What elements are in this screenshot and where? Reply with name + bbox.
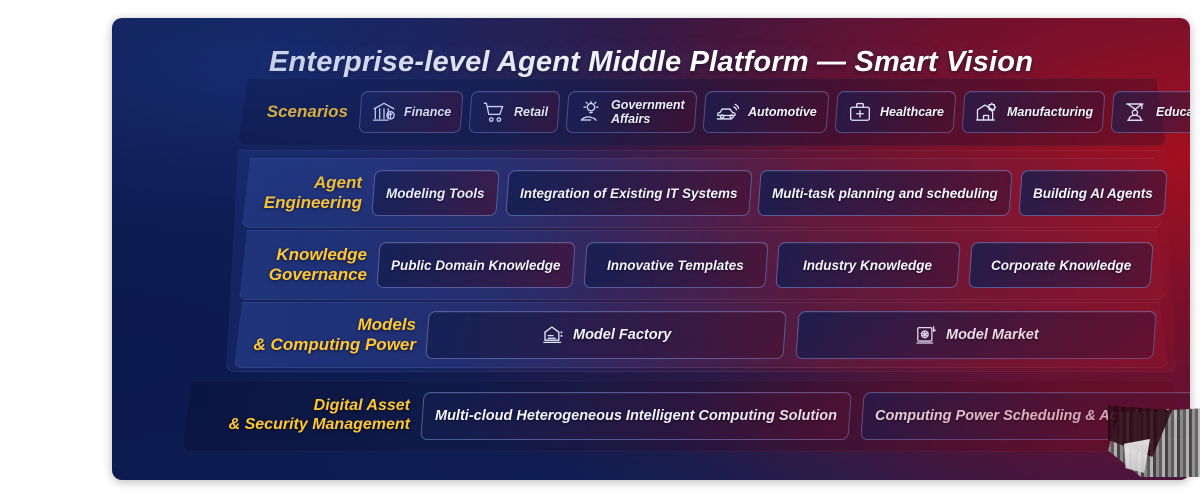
agent-label-modeling-tools: Modeling Tools <box>386 186 485 201</box>
scenarios-chip-list: Finance Retail <box>360 91 1190 133</box>
row-label-digital-asset: Digital Asset & Security Management <box>200 397 410 435</box>
digital-label-multicloud-solution: Multi-cloud Heterogeneous Intelligent Co… <box>435 408 837 424</box>
graduation-person-icon <box>1123 99 1149 125</box>
car-icon <box>715 99 741 125</box>
platform-board: Enterprise-level Agent Middle Platform —… <box>112 18 1190 480</box>
scenario-label-government-affairs: Government Affairs <box>611 98 685 126</box>
bank-icon <box>371 99 397 125</box>
scenario-chip-manufacturing[interactable]: Manufacturing <box>961 91 1105 133</box>
agent-label-integration: Integration of Existing IT Systems <box>520 186 738 201</box>
row-label-models-computing: Models & Computing Power <box>250 315 416 355</box>
scenarios-panel: Scenarios Finance <box>238 78 1166 146</box>
agent-chip-integration[interactable]: Integration of Existing IT Systems <box>505 170 752 216</box>
scenario-chip-automotive[interactable]: Automotive <box>702 91 829 133</box>
row-label-knowledge-governance: Knowledge Governance <box>255 245 367 285</box>
digital-chip-multicloud-solution[interactable]: Multi-cloud Heterogeneous Intelligent Co… <box>420 392 851 440</box>
model-market-icon <box>912 322 938 348</box>
scenario-chip-finance[interactable]: Finance <box>359 91 464 133</box>
digital-label-power-scheduling: Computing Power Scheduling & Acceleratio… <box>875 408 1186 424</box>
agent-chip-building-ai-agents[interactable]: Building AI Agents <box>1018 170 1167 216</box>
knowledge-label-corporate-knowledge: Corporate Knowledge <box>990 258 1130 273</box>
scenario-label-education: Education <box>1156 105 1190 119</box>
knowledge-chip-innovative-templates[interactable]: Innovative Templates <box>583 242 768 288</box>
models-chip-model-market[interactable]: Model Market <box>795 311 1156 359</box>
agent-label-building-ai-agents: Building AI Agents <box>1033 186 1153 201</box>
lightbulb-hand-icon <box>578 99 604 125</box>
models-chip-model-factory[interactable]: Model Factory <box>425 311 786 359</box>
scenario-chip-government-affairs[interactable]: Government Affairs <box>566 91 698 133</box>
models-label-model-market: Model Market <box>945 327 1038 343</box>
knowledge-chip-corporate-knowledge[interactable]: Corporate Knowledge <box>968 242 1153 288</box>
scenario-chip-healthcare[interactable]: Healthcare <box>834 91 956 133</box>
agent-engineering-chip-list: Modeling Tools Integration of Existing I… <box>373 170 1166 216</box>
model-factory-icon <box>540 322 566 348</box>
scenario-label-manufacturing: Manufacturing <box>1007 105 1093 119</box>
scenario-label-automotive: Automotive <box>748 105 817 119</box>
shopping-cart-icon <box>481 99 507 125</box>
agent-engineering-panel: Agent Engineering Modeling Tools Integra… <box>242 158 1162 228</box>
scenario-chip-retail[interactable]: Retail <box>469 91 561 133</box>
models-computing-panel: Models & Computing Power <box>234 302 1168 368</box>
knowledge-chip-industry-knowledge[interactable]: Industry Knowledge <box>775 242 960 288</box>
digital-chip-power-scheduling[interactable]: Computing Power Scheduling & Acceleratio… <box>860 392 1190 440</box>
agent-chip-multitask-planning[interactable]: Multi-task planning and scheduling <box>757 170 1012 216</box>
row-label-agent-engineering: Agent Engineering <box>258 173 362 213</box>
medical-kit-icon <box>847 99 873 125</box>
scenario-label-healthcare: Healthcare <box>880 105 944 119</box>
agent-chip-modeling-tools[interactable]: Modeling Tools <box>371 170 499 216</box>
agent-label-multitask-planning: Multi-task planning and scheduling <box>772 186 998 201</box>
scenario-label-retail: Retail <box>514 105 548 119</box>
knowledge-governance-panel: Knowledge Governance Public Domain Knowl… <box>239 230 1165 300</box>
knowledge-label-innovative-templates: Innovative Templates <box>607 258 744 273</box>
scenario-chip-education[interactable]: Education <box>1110 91 1190 133</box>
row-label-scenarios: Scenarios <box>256 102 348 122</box>
knowledge-label-public-domain: Public Domain Knowledge <box>391 258 561 273</box>
knowledge-governance-chip-list: Public Domain Knowledge Innovative Templ… <box>378 242 1151 288</box>
knowledge-chip-public-domain[interactable]: Public Domain Knowledge <box>376 242 575 288</box>
scenario-label-finance: Finance <box>404 105 451 119</box>
factory-gear-icon <box>974 99 1000 125</box>
models-label-model-factory: Model Factory <box>573 327 671 343</box>
digital-asset-chip-list: Multi-cloud Heterogeneous Intelligent Co… <box>422 392 1190 440</box>
knowledge-label-industry-knowledge: Industry Knowledge <box>803 258 932 273</box>
models-computing-chip-list: Model Factory <box>427 311 1154 359</box>
digital-asset-security-panel: Digital Asset & Security Management Mult… <box>182 380 1182 452</box>
diagram-root: Enterprise-level Agent Middle Platform —… <box>0 0 1200 502</box>
page-title: Enterprise-level Agent Middle Platform —… <box>112 46 1190 79</box>
